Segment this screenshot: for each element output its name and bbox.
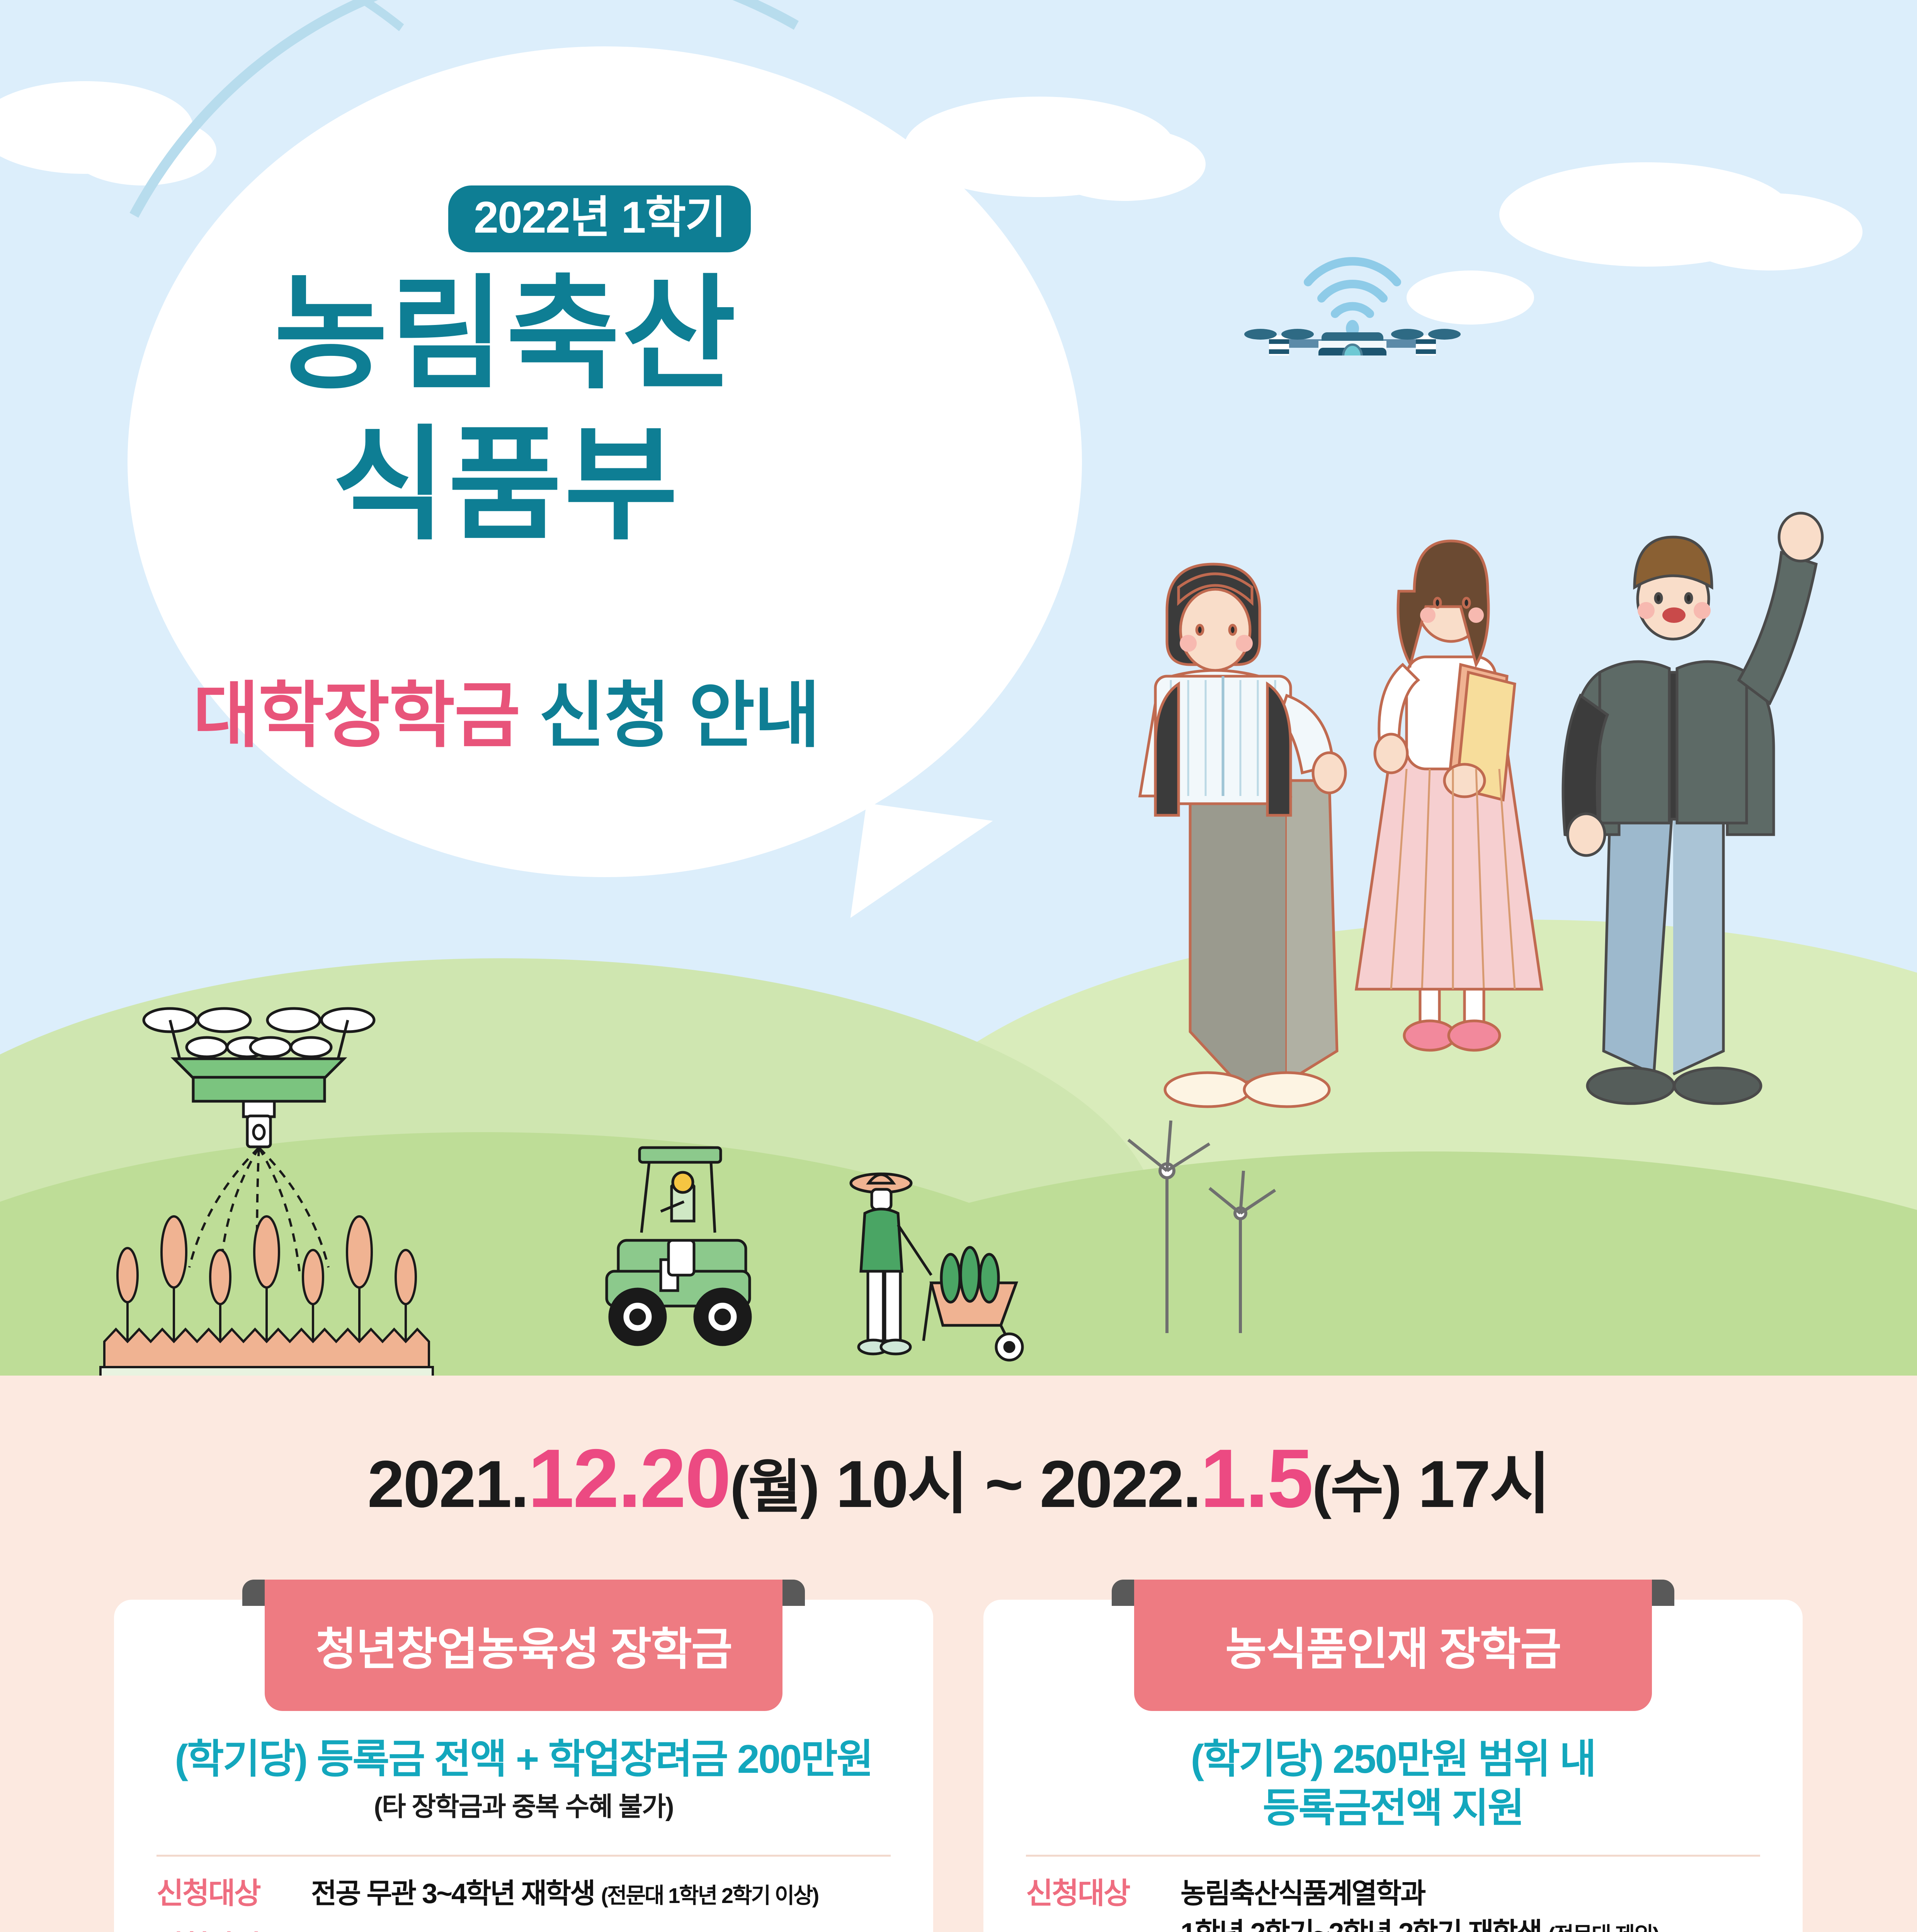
detail-row-qualification: 신청자격 직전학기 이수학점 12학점 이상 성적 70점 이상인 만 40세 … xyxy=(156,1927,902,1932)
wheat-field-icon xyxy=(97,1206,444,1376)
row-small-note: (전문대 제외) xyxy=(1548,1923,1658,1932)
term-badge: 2022년 1학기 xyxy=(448,185,751,252)
period-start-year: 2021. xyxy=(367,1447,528,1521)
row-body: 직전학기 이수학점 12학점 이상 성적 70점 이상인 만 40세 미만인 자 xyxy=(311,1927,902,1932)
page-subtitle: 대학장학금 신청 안내 xyxy=(0,680,1012,752)
period-end-year: 2022. xyxy=(1040,1447,1200,1521)
row-body: 농림축산식품계열학과 1학년 2학기~2학년 2학기 재학생 (전문대 제외) xyxy=(1180,1874,1772,1932)
row-label: 신청자격 xyxy=(156,1927,311,1932)
card-detail-rows: 신청대상 전공 무관 3~4학년 재학생 (전문대 1학년 2학기 이상) 신청… xyxy=(156,1874,902,1932)
card-divider xyxy=(1026,1855,1760,1857)
row-body: 전공 무관 3~4학년 재학생 (전문대 1학년 2학기 이상) xyxy=(311,1874,902,1914)
row-main-text: 농림축산식품계열학과 xyxy=(1180,1874,1772,1913)
speech-bubble-tail xyxy=(850,803,993,935)
poster-root: 2022년 1학기 농림축산 식품부 대학장학금 신청 안내 2021.12.2… xyxy=(0,0,1917,1932)
detail-row-eligible-target: 신청대상 전공 무관 3~4학년 재학생 (전문대 1학년 2학기 이상) xyxy=(156,1874,902,1914)
drone-wifi-icon xyxy=(1229,216,1476,355)
card-amount: (학기당) 등록금 전액 + 학업장려금 200만원 xyxy=(114,1735,933,1784)
detail-row-eligible-target: 신청대상 농림축산식품계열학과 1학년 2학기~2학년 2학기 재학생 (전문대… xyxy=(1026,1874,1772,1932)
scholarship-card-agrifood-talent: 농식품인재 장학금 (학기당) 250만원 범위 내 등록금전액 지원 신청대상… xyxy=(983,1600,1803,1932)
row-main-text: 전공 무관 3~4학년 재학생 xyxy=(311,1878,594,1909)
students-illustration xyxy=(1121,448,1855,1298)
card-amount-line-2: 등록금전액 지원 xyxy=(983,1784,1803,1833)
period-start-day: (월) xyxy=(730,1454,818,1519)
row-label: 신청대상 xyxy=(1026,1874,1180,1932)
title-line-2: 식품부 xyxy=(0,410,1012,560)
card-divider xyxy=(156,1855,891,1857)
card-amount: (학기당) 250만원 범위 내 등록금전액 지원 xyxy=(983,1735,1803,1833)
period-end-time: 17시 xyxy=(1418,1447,1550,1521)
card-amount-line-1: (학기당) 250만원 범위 내 xyxy=(983,1735,1803,1784)
page-title: 농림축산 식품부 xyxy=(0,259,1012,561)
row-bullet: 직전학기 이수학점 12학점 이상 xyxy=(311,1927,902,1932)
period-start-time: 10시 xyxy=(836,1447,968,1521)
period-start-date: 12.20 xyxy=(528,1432,730,1525)
row-main-text-2: 1학년 2학기~2학년 2학기 재학생 xyxy=(1180,1918,1541,1932)
period-end-day: (수) xyxy=(1312,1454,1401,1519)
cloud-icon xyxy=(1043,128,1206,201)
farmer-wheelbarrow-icon xyxy=(835,1159,1036,1368)
period-end-date: 1.5 xyxy=(1200,1432,1312,1525)
period-tilde: ~ xyxy=(985,1447,1022,1521)
card-detail-rows: 신청대상 농림축산식품계열학과 1학년 2학기~2학년 2학기 재학생 (전문대… xyxy=(1026,1874,1772,1932)
scholarship-card-youth-startup: 청년창업농육성 장학금 (학기당) 등록금 전액 + 학업장려금 200만원 (… xyxy=(114,1600,933,1932)
subtitle-guide: 신청 안내 xyxy=(539,676,820,756)
tractor-icon xyxy=(572,1144,788,1360)
card-amount-note: (타 장학금과 중복 수혜 불가) xyxy=(114,1785,933,1823)
application-period: 2021.12.20(월) 10시 ~ 2022.1.5(수) 17시 xyxy=(0,1430,1917,1526)
card-ribbon-title: 청년창업농육성 장학금 xyxy=(265,1580,782,1711)
title-line-1: 농림축산 xyxy=(0,259,1012,410)
row-label: 신청대상 xyxy=(156,1874,311,1914)
subtitle-scholarship: 대학장학금 xyxy=(193,676,520,756)
row-small-note: (전문대 1학년 2학기 이상) xyxy=(601,1883,818,1908)
cloud-icon xyxy=(1677,193,1863,270)
card-ribbon-title: 농식품인재 장학금 xyxy=(1134,1580,1652,1711)
